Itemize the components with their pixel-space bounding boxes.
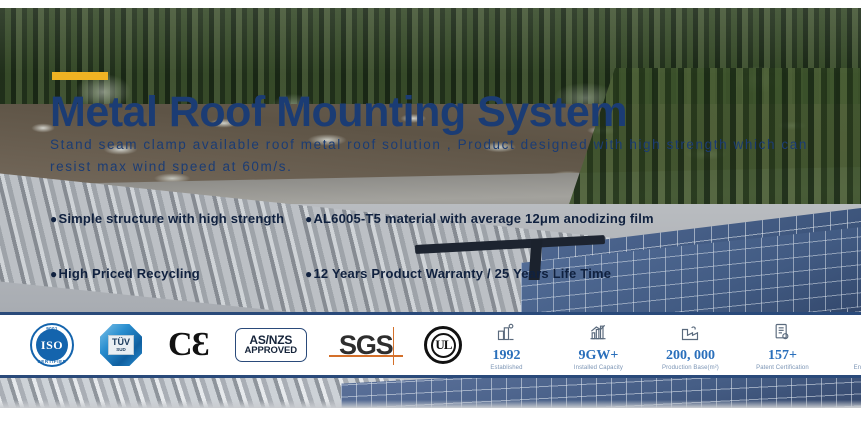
stat-label: Installed Capacity: [562, 365, 634, 371]
certification-logos: 9001 ISO CERTIFIED TÜV SUD CƐ AS/NZS APP…: [0, 323, 462, 367]
approved-label: APPROVED: [245, 346, 298, 356]
plant-icon: [654, 319, 726, 345]
tuv-sud-logo: TÜV SUD: [100, 324, 142, 366]
sgs-logo: SGS: [333, 332, 398, 359]
people-icon: [838, 319, 861, 345]
feature-text: High Priced Recycling: [58, 266, 199, 281]
feature-text: Simple structure with high strength: [58, 211, 284, 226]
feature-item-3: ●High Priced Recycling: [50, 266, 305, 281]
stat-installed-capacity: 9GW+ Installed Capacity: [562, 319, 634, 370]
sgs-horizontal-rule: [329, 355, 403, 357]
bottom-fade-layer: [0, 400, 861, 408]
tuv-sub-label: SUD: [116, 348, 126, 353]
ul-label: UL: [431, 333, 456, 358]
stat-label: Production Base(m²): [654, 365, 726, 371]
stat-value: 157+: [746, 348, 818, 363]
bullet-icon: ●: [305, 212, 312, 226]
iso-label: ISO: [36, 329, 68, 361]
certification-stats-band: 9001 ISO CERTIFIED TÜV SUD CƐ AS/NZS APP…: [0, 312, 861, 378]
tuv-label: TÜV: [112, 338, 130, 347]
iso-certified-logo: 9001 ISO CERTIFIED: [30, 323, 74, 367]
bullet-icon: ●: [305, 267, 312, 281]
factory-icon: [470, 319, 542, 345]
stat-patent-certification: 157+ Patent Certification: [746, 319, 818, 370]
product-banner-page: Metal Roof Mounting System Stand seam cl…: [0, 0, 861, 436]
stat-value: 9GW+: [562, 348, 634, 363]
stat-label: Established: [470, 365, 542, 371]
as-nzs-approved-logo: AS/NZS APPROVED: [235, 328, 308, 363]
stat-label: Engineer Team: [838, 365, 861, 371]
bar-chart-icon: [562, 319, 634, 345]
feature-item-2: ●AL6005-T5 material with average 12μm an…: [305, 211, 840, 226]
iso-certified-text: CERTIFIED: [32, 359, 72, 364]
feature-text: 12 Years Product Warranty / 25 Years Lif…: [313, 266, 611, 281]
stat-value: 18+: [838, 348, 861, 363]
stat-label: Patent Certification: [746, 365, 818, 371]
feature-list: ●Simple structure with high strength ●AL…: [50, 211, 840, 281]
certificate-icon: [746, 319, 818, 345]
hero-subtitle: Stand seam clamp available roof metal ro…: [50, 134, 850, 178]
bullet-icon: ●: [50, 267, 57, 281]
sgs-vertical-rule: [393, 327, 395, 365]
feature-item-4: ●12 Years Product Warranty / 25 Years Li…: [305, 266, 840, 281]
bullet-icon: ●: [50, 212, 57, 226]
ce-mark-logo: CƐ: [168, 328, 209, 362]
stat-value: 1992: [470, 348, 542, 363]
stat-production-base: 200, 000 Production Base(m²): [654, 319, 726, 370]
bottom-photo-strip: [0, 378, 861, 408]
page-title: Metal Roof Mounting System: [50, 90, 627, 135]
tuv-face: TÜV SUD: [108, 335, 134, 355]
feature-item-1: ●Simple structure with high strength: [50, 211, 305, 226]
feature-text: AL6005-T5 material with average 12μm ano…: [313, 211, 653, 226]
stat-value: 200, 000: [654, 348, 726, 363]
iso-year-text: 9001: [32, 326, 72, 331]
ul-listed-logo: UL: [424, 326, 462, 364]
stat-established: 1992 Established: [470, 319, 542, 370]
accent-bar: [52, 72, 108, 80]
company-stats: 1992 Established 9GW+ Installed Capacity: [462, 319, 861, 370]
hero-section: Metal Roof Mounting System Stand seam cl…: [0, 8, 861, 312]
stat-engineer-team: 18+ Engineer Team: [838, 319, 861, 370]
